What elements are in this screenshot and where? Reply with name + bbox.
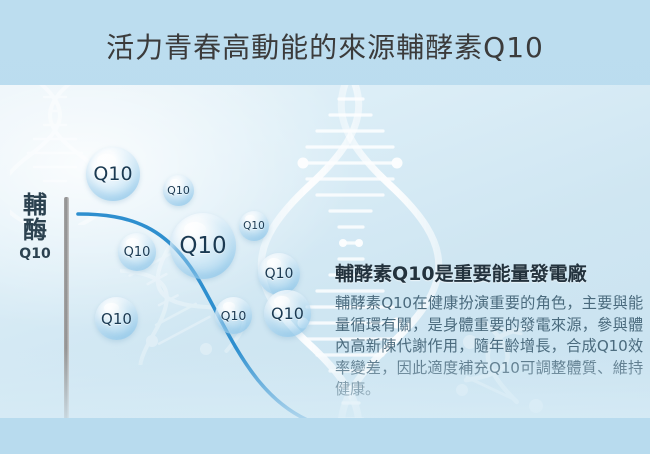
q10-bubble-label: Q10 (179, 233, 226, 259)
y-axis-label-sub: Q10 (12, 245, 58, 263)
q10-bubble-label: Q10 (243, 220, 265, 232)
q10-bubble: Q10 (86, 147, 140, 201)
infographic-canvas: 活力青春高動能的來源輔酵素Q10 (0, 0, 650, 454)
q10-bubble-label: Q10 (124, 245, 151, 260)
page-title: 活力青春高動能的來源輔酵素Q10 (0, 26, 650, 66)
q10-bubble: Q10 (163, 175, 194, 206)
q10-bubble: Q10 (170, 213, 236, 279)
q10-bubble-label: Q10 (93, 163, 132, 185)
y-axis-label-char-1: 輔酶 (12, 193, 58, 243)
info-text-block: 輔酵素Q10是重要能量發電廠 輔酵素Q10在健康扮演重要的角色，主要與能量循環有… (335, 261, 643, 401)
info-heading: 輔酵素Q10是重要能量發電廠 (335, 261, 643, 287)
q10-bubble-label: Q10 (101, 310, 132, 328)
y-axis-label: 輔酶 Q10 (12, 193, 58, 263)
q10-bubble-label: Q10 (271, 304, 304, 323)
q10-bubble-label: Q10 (167, 184, 190, 197)
content-panel: 輔酶 Q10 Q10 Q10 Q10 Q10 Q10 Q10 Q10 Q10 Q… (0, 85, 650, 418)
q10-bubble-label: Q10 (265, 266, 294, 282)
q10-bubble-label: Q10 (221, 308, 247, 323)
info-body: 輔酵素Q10在健康扮演重要的角色，主要與能量循環有關，是身體重要的發電來源，參與… (335, 293, 643, 401)
q10-bubble: Q10 (215, 297, 252, 334)
q10-bubble: Q10 (239, 211, 269, 241)
q10-bubble: Q10 (95, 297, 138, 340)
q10-bubble: Q10 (258, 253, 300, 295)
q10-bubble: Q10 (264, 290, 311, 337)
q10-bubble: Q10 (118, 233, 156, 271)
